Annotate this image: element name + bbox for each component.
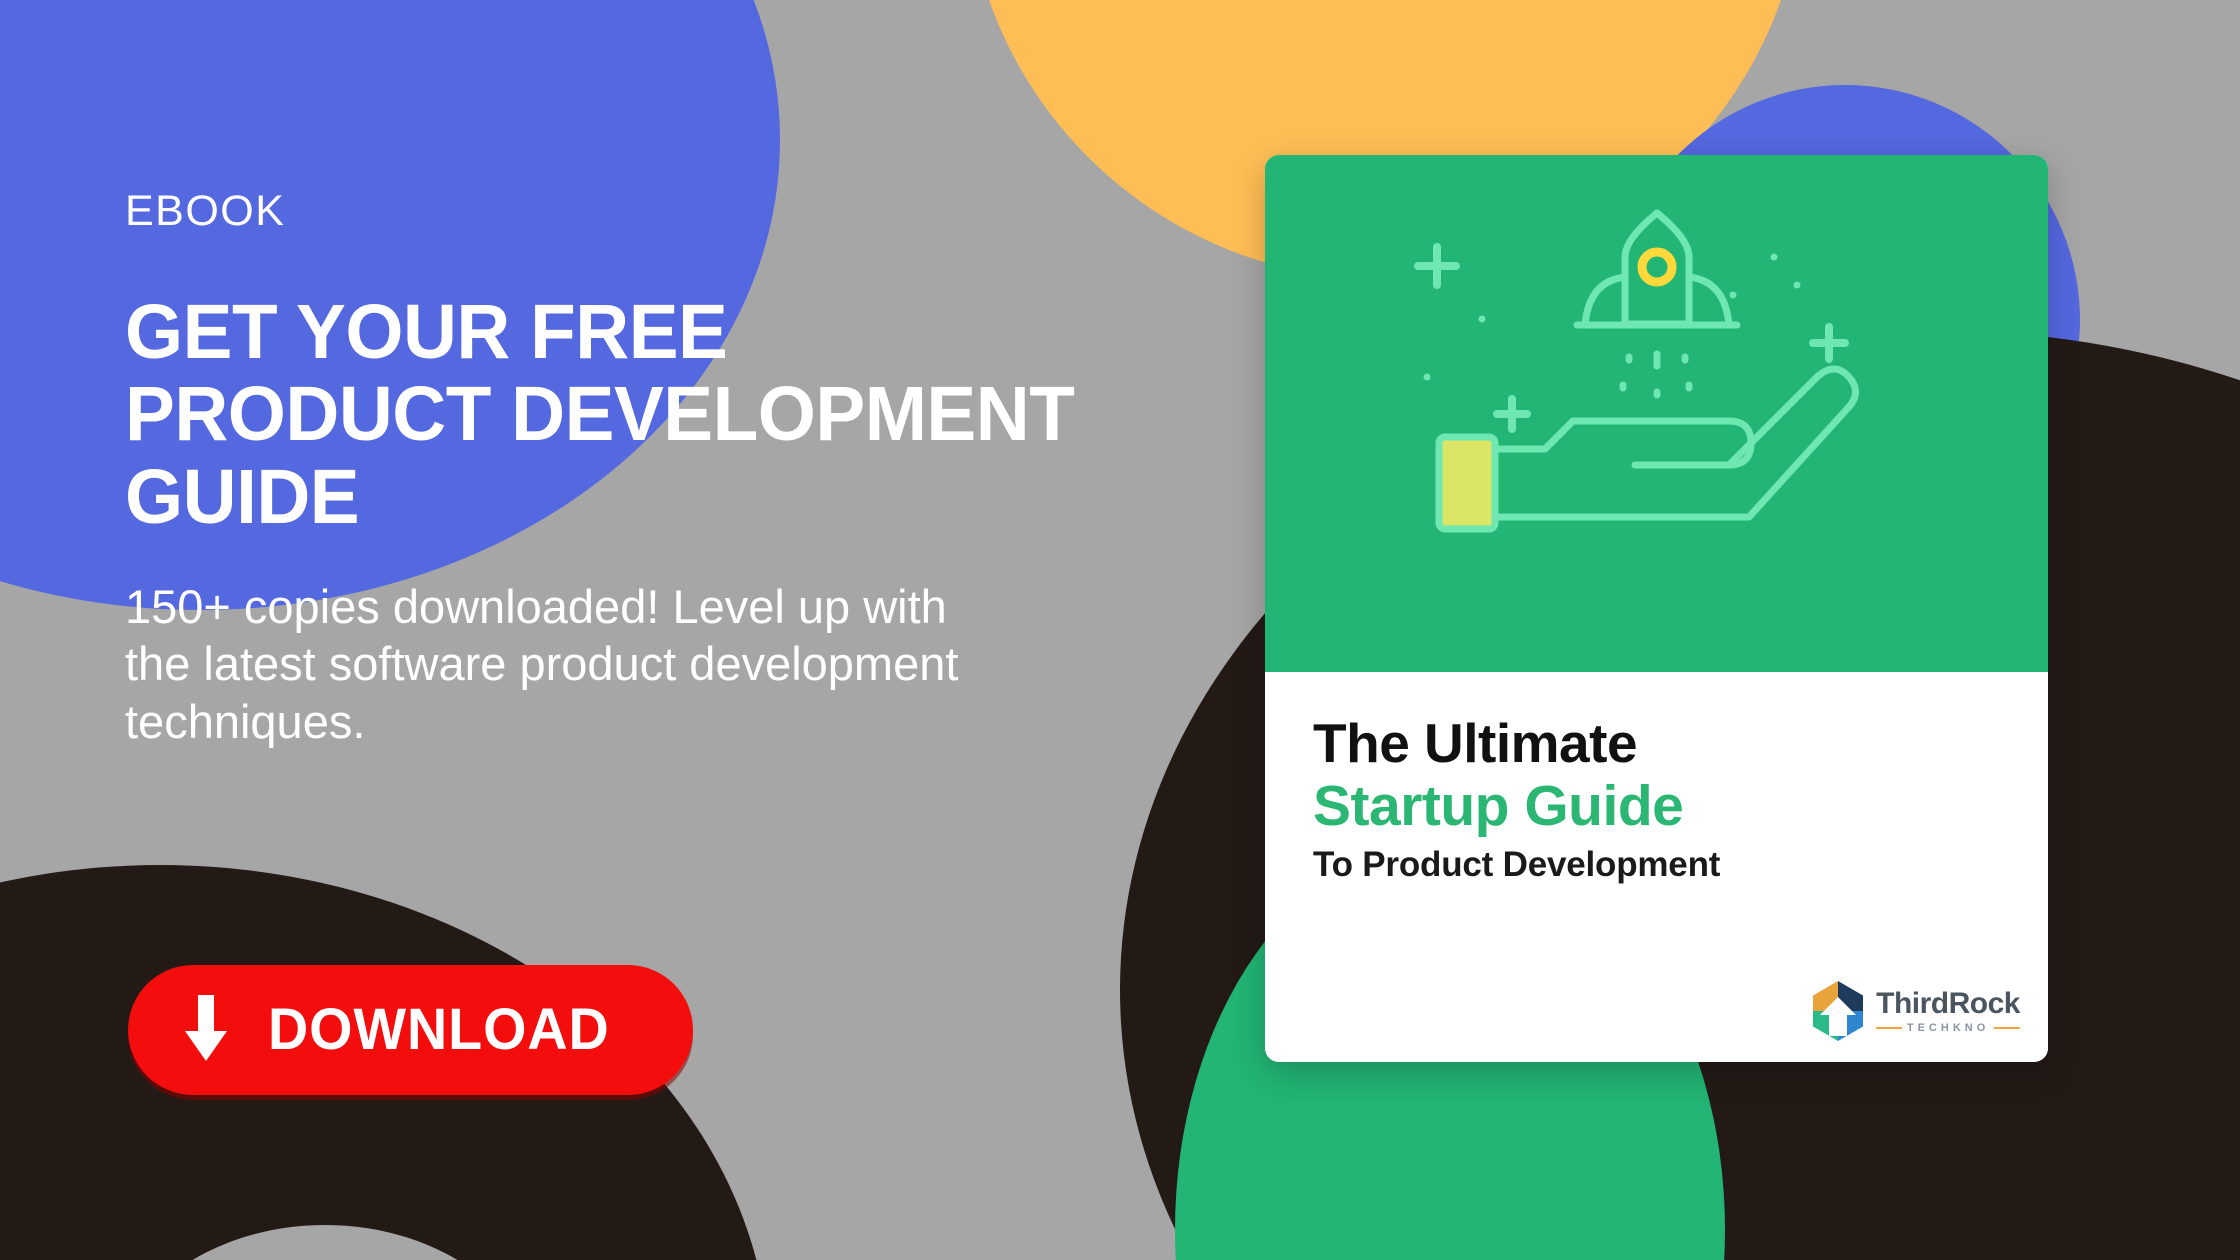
thirdrock-tagline-row: TECHKNO (1876, 1023, 2020, 1034)
rocket-in-hand-illustration (1377, 199, 1937, 629)
eyebrow-label: EBOOK (125, 190, 1135, 233)
download-button[interactable]: DOWNLOAD (128, 965, 693, 1095)
thirdrock-wordmark-wrap: ThirdRock TECHKNO (1876, 989, 2020, 1034)
thirdrock-hexagon-logo-icon (1810, 980, 1866, 1042)
ebook-title-block: The Ultimate Startup Guide To Product De… (1313, 714, 1913, 885)
thirdrock-wordmark: ThirdRock (1876, 989, 2020, 1019)
ebook-subtitle: To Product Development (1313, 846, 1913, 885)
logo-rule-right (1994, 1027, 2020, 1029)
ebook-cover-illustration-area (1265, 155, 2048, 672)
headline-column: EBOOK GET YOUR FREE PRODUCT DEVELOPMENT … (125, 190, 1135, 750)
page-title: GET YOUR FREE PRODUCT DEVELOPMENT GUIDE (125, 291, 1105, 538)
ebook-title-line-1: The Ultimate (1313, 714, 1913, 773)
promo-banner: EBOOK GET YOUR FREE PRODUCT DEVELOPMENT … (0, 0, 2240, 1260)
ebook-title-line-2: Startup Guide (1313, 775, 1913, 838)
ebook-cover-title-area: The Ultimate Startup Guide To Product De… (1265, 672, 2048, 1062)
subheading-text: 150+ copies downloaded! Level up with th… (125, 578, 1025, 750)
ebook-cover-card[interactable]: The Ultimate Startup Guide To Product De… (1265, 155, 2048, 1062)
download-arrow-icon (180, 995, 232, 1065)
thirdrock-tagline: TECHKNO (1907, 1023, 1989, 1034)
download-button-label: DOWNLOAD (268, 1001, 610, 1059)
logo-rule-left (1876, 1027, 1902, 1029)
thirdrock-logo: ThirdRock TECHKNO (1810, 980, 2020, 1042)
